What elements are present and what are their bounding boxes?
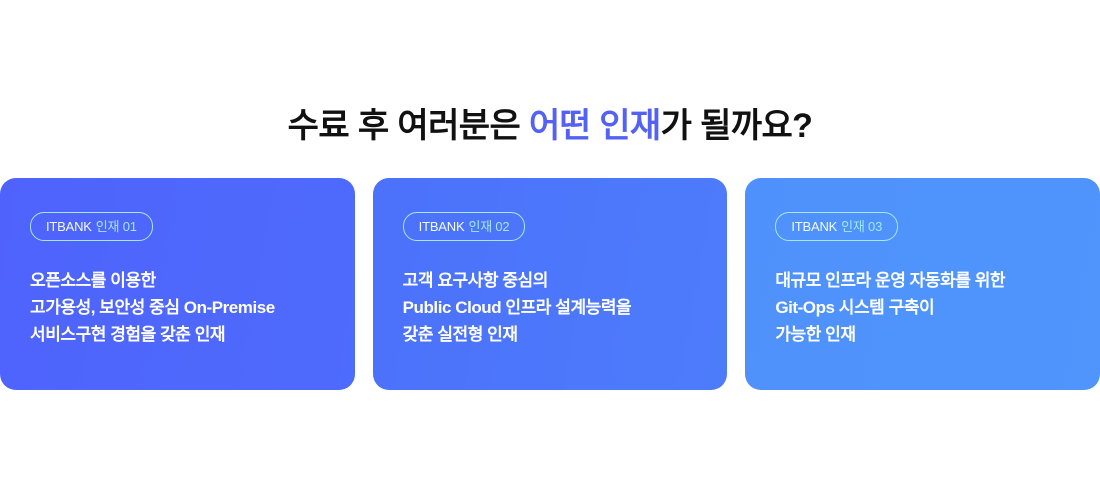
badge-talent-01: ITBANK 인재 01 [30, 212, 153, 241]
badge-rank-label: 인재 03 [841, 220, 882, 233]
talent-card-01[interactable]: ITBANK 인재 01 오픈소스를 이용한 고가용성, 보안성 중심 On-P… [0, 178, 355, 390]
talent-card-03[interactable]: ITBANK 인재 03 대규모 인프라 운영 자동화를 위한 Git-Ops … [745, 178, 1100, 390]
badge-brand-label: ITBANK [46, 220, 92, 233]
badge-talent-02: ITBANK 인재 02 [403, 212, 526, 241]
badge-rank-label: 인재 02 [468, 220, 509, 233]
page-title-part-2: 가 될까요? [661, 107, 813, 145]
talent-card-list: ITBANK 인재 01 오픈소스를 이용한 고가용성, 보안성 중심 On-P… [0, 178, 1100, 390]
badge-rank-label: 인재 01 [96, 220, 137, 233]
badge-brand-label: ITBANK [419, 220, 465, 233]
page-title: 수료 후 여러분은 어떤 인재가 될까요? [0, 103, 1100, 149]
talent-card-02-description: 고객 요구사항 중심의 Public Cloud 인프라 설계능력을 갖춘 실전… [403, 267, 698, 348]
badge-brand-label: ITBANK [791, 220, 837, 233]
page-title-part-1: 수료 후 여러분은 [288, 107, 529, 145]
talent-card-03-description: 대규모 인프라 운영 자동화를 위한 Git-Ops 시스템 구축이 가능한 인… [775, 267, 1070, 348]
talent-card-01-description: 오픈소스를 이용한 고가용성, 보안성 중심 On-Premise 서비스구현 … [30, 267, 325, 348]
page-title-accent: 어떤 인재 [529, 107, 661, 145]
badge-talent-03: ITBANK 인재 03 [775, 212, 898, 241]
talent-card-02[interactable]: ITBANK 인재 02 고객 요구사항 중심의 Public Cloud 인프… [373, 178, 728, 390]
promo-section: 수료 후 여러분은 어떤 인재가 될까요? ITBANK 인재 01 오픈소스를… [0, 0, 1100, 490]
